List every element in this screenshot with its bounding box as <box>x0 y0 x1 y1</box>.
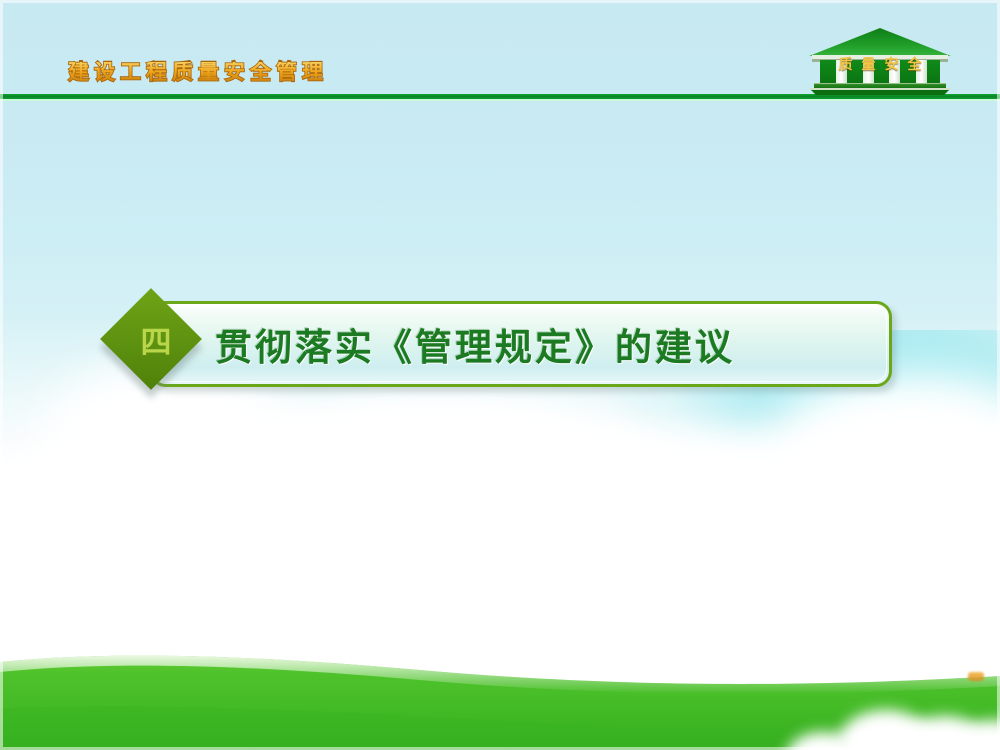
section-number-badge: 四 <box>104 292 208 396</box>
header-divider-highlight <box>0 99 1000 101</box>
section-number-text: 四 <box>104 292 208 386</box>
logo-label: 质量安全 <box>806 54 954 74</box>
presentation-slide: 建设工程质量安全管理 建设工程质量安全管理 <box>0 0 1000 750</box>
header-title: 建设工程质量安全管理 <box>68 62 328 83</box>
horizon-accent-speck <box>968 672 984 681</box>
quality-safety-temple-logo: 质量安全 <box>806 26 954 96</box>
section-title-banner: 贯彻落实《管理规定》的建议 <box>150 301 892 387</box>
section-title-text: 贯彻落实《管理规定》的建议 <box>215 304 735 384</box>
